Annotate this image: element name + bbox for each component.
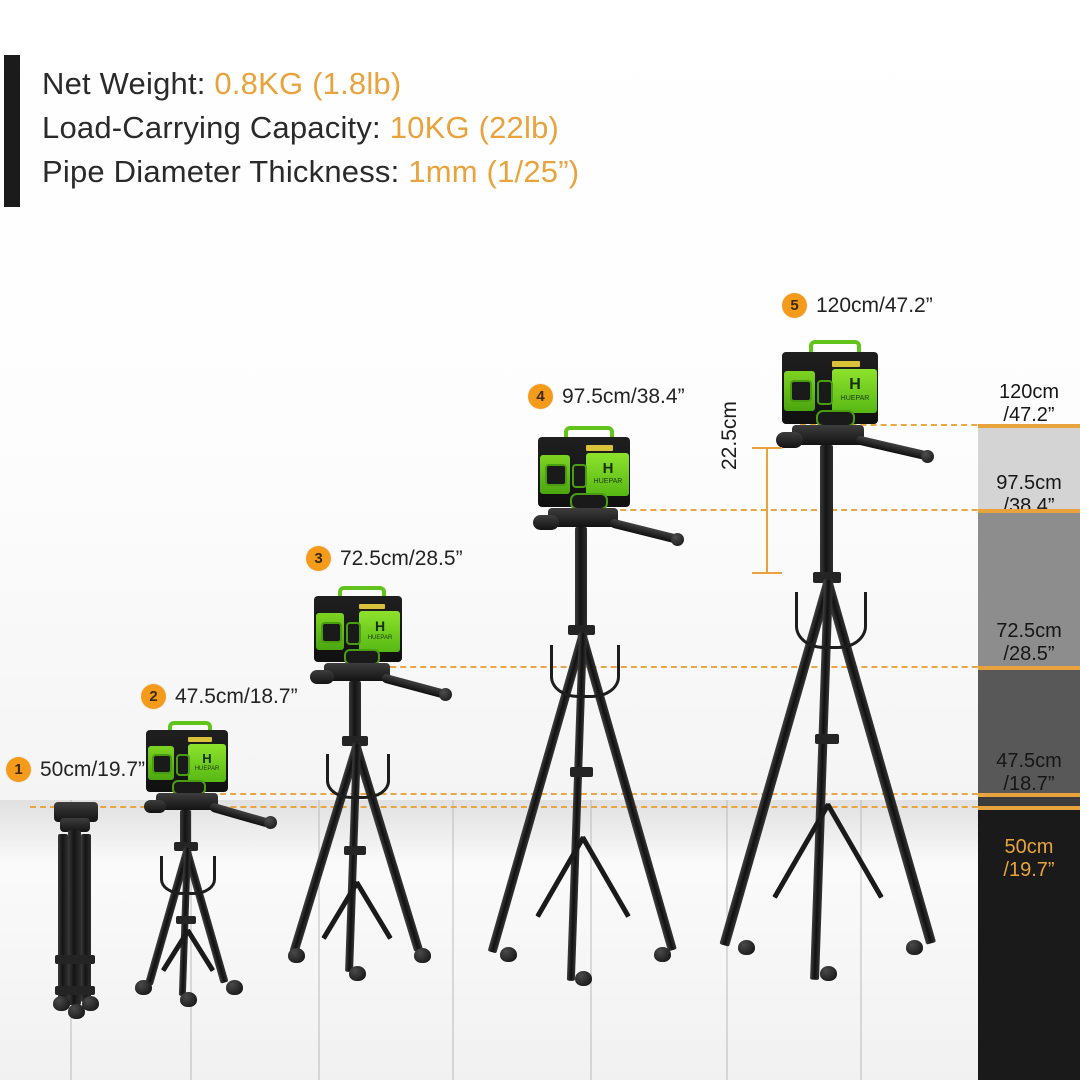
measurement-scale: 97.5cm/38.4” 72.5cm/28.5” 47.5cm/18.7” 5… [978,424,1080,1080]
tripod-foot [180,992,197,1007]
accent-bar [4,55,20,207]
brand-logo: H [591,461,625,476]
bracket-cap-top [752,447,782,449]
pan-handle [855,435,929,460]
bracket-cap-bottom [752,572,782,574]
tripod-foot [288,948,305,963]
spec-net-weight-value: 0.8KG (1.8lb) [214,66,401,101]
laser-level-head: H HUEPAR [782,352,878,424]
laser-level-head: H HUEPAR [538,437,630,507]
laser-level-head: H HUEPAR [314,596,402,662]
callout-4: 4 97.5cm/38.4” [528,384,685,409]
callout-2: 2 47.5cm/18.7” [141,684,298,709]
spec-net-weight-label: Net Weight: [42,66,214,101]
callout-label-2: 47.5cm/18.7” [175,685,298,709]
callout-label-3: 72.5cm/28.5” [340,547,463,571]
tripod-foot [226,980,243,995]
pan-handle [609,518,679,544]
callout-label-1: 50cm/19.7” [40,758,145,782]
brand-logo: H [192,752,222,765]
spec-pipe-diameter-label: Pipe Diameter Thickness: [42,154,408,189]
brand-name: HUEPAR [835,395,875,402]
spec-load-capacity-label: Load-Carrying Capacity: [42,110,390,145]
spec-pipe-diameter-value: 1mm (1/25”) [408,154,579,189]
scale-label-72: 72.5cm/28.5” [978,620,1080,666]
brand-logo: H [364,619,396,633]
spec-net-weight: Net Weight: 0.8KG (1.8lb) [42,62,722,106]
tripod-foot [575,971,592,986]
column-extension-bracket [766,447,768,573]
callout-badge-4: 4 [528,384,553,409]
callout-1: 1 50cm/19.7” [6,757,145,782]
callout-badge-5: 5 [782,293,807,318]
scale-label-50: 50cm/19.7” [978,836,1080,882]
pan-handle [209,802,271,828]
callout-label-4: 97.5cm/38.4” [562,385,685,409]
callout-badge-2: 2 [141,684,166,709]
spec-pipe-diameter: Pipe Diameter Thickness: 1mm (1/25”) [42,150,722,194]
tripod-foot [82,996,99,1011]
tripod-foot [500,947,517,962]
scale-label-120: 120cm/47.2” [978,381,1080,427]
callout-3: 3 72.5cm/28.5” [306,546,463,571]
spec-load-capacity: Load-Carrying Capacity: 10KG (22lb) [42,106,722,150]
tripod-foot [738,940,755,955]
tripod-foot [654,947,671,962]
product-infographic: Net Weight: 0.8KG (1.8lb) Load-Carrying … [0,0,1080,1080]
laser-level-head: H HUEPAR [146,730,228,792]
callout-badge-1: 1 [6,757,31,782]
tripod-3: H HUEPAR [278,596,508,1008]
brand-name: HUEPAR [362,635,398,641]
bracket-label: 22.5cm [718,401,742,470]
tripod-foot [349,966,366,981]
brand-logo: H [837,377,873,393]
tripod-4: H HUEPAR [498,437,758,1007]
brand-name: HUEPAR [190,766,224,772]
pan-handle [381,673,447,699]
callout-label-5: 120cm/47.2” [816,294,933,318]
callout-badge-3: 3 [306,546,331,571]
tripod-foot [135,980,152,995]
scale-label-47: 47.5cm/18.7” [978,750,1080,796]
spec-load-capacity-value: 10KG (22lb) [390,110,559,145]
tripod-5: H HUEPAR [740,352,1010,1008]
brand-name: HUEPAR [589,478,627,485]
tripod-foot [414,948,431,963]
spec-list: Net Weight: 0.8KG (1.8lb) Load-Carrying … [42,62,722,194]
callout-5: 5 120cm/47.2” [782,293,933,318]
tripod-foot [820,966,837,981]
tripod-foot [906,940,923,955]
